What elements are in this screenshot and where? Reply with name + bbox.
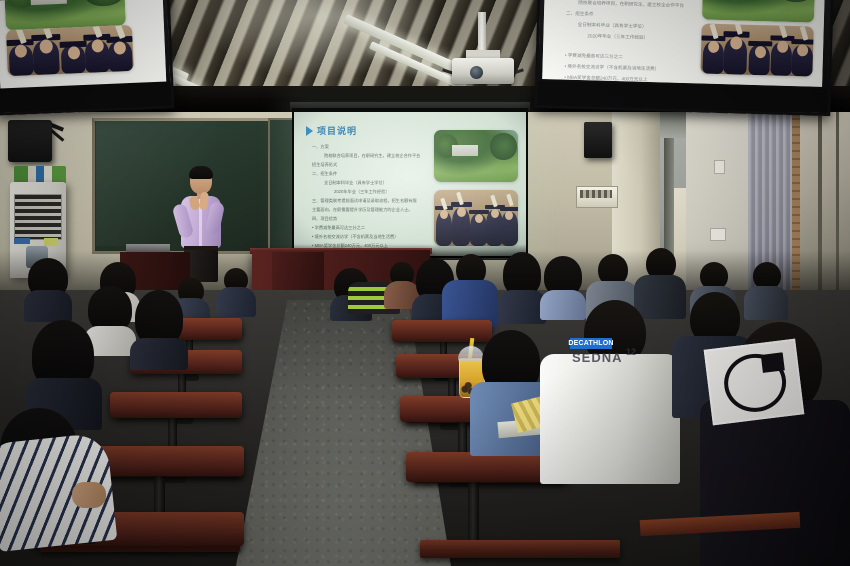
slide-body-line: 2020年毕业（三年工作经验）	[312, 189, 430, 195]
wall-switch-icon[interactable]	[714, 160, 725, 174]
presenter-hair	[189, 166, 213, 179]
shirt-subtext: SEDNA	[572, 350, 623, 365]
graduation-ceremony-photo	[434, 190, 518, 246]
chair-left-3	[110, 392, 242, 418]
wall-box-grille	[580, 190, 612, 198]
ac-label	[14, 238, 30, 244]
slide-body-line: 主要面向，在职需要提升学历及管理能力的企业人士。	[312, 207, 430, 213]
shirt-number: 12	[626, 347, 636, 357]
slide-body-line: 院校联合培养项目，在职研究生，建立校企合作平台	[312, 153, 430, 159]
slide-bullet-triangle-icon	[306, 126, 313, 136]
slide-body-line: 全日制本科毕业（具有学士学位）	[312, 180, 430, 186]
ac-vent-grille	[14, 194, 62, 240]
student-far-left-4	[216, 268, 256, 316]
slide-body-line: • 学费减免最高可达三分之二	[312, 225, 430, 231]
student-center-4	[498, 252, 546, 322]
slide-body-line: • 境外名校交流访学（不含机票及当地生活费）	[312, 234, 430, 240]
campus-lawn-photo	[702, 0, 815, 23]
slide-title: 项目说明	[317, 124, 357, 137]
slide-body-line: • 境外名校交流访学（不含机票及当地生活费）	[564, 63, 704, 75]
slide-body-line: 一、方案	[312, 144, 430, 150]
slide-body-line: 全日制本科毕业（具有学士学位）	[566, 21, 706, 33]
ac-label	[44, 238, 58, 246]
slide-body-line: 2020年毕业（三年工作经验）	[565, 32, 705, 44]
student-left-row3	[130, 290, 188, 366]
student-blue-tshirt	[442, 254, 498, 326]
student-pinstripe-arm	[72, 482, 106, 508]
projector-lens-icon	[470, 66, 483, 79]
student-white-decathlon-shirt: DECATHLON SEDNA 12	[540, 300, 680, 480]
slide-body-line: 三、管理类联考提前面试申请及录取流程，招生名额有限	[312, 198, 430, 204]
wall-speaker-right	[584, 122, 612, 158]
projection-screen: 项目说明 一、方案 院校联合培养项目，在职研究生，建立校企合作平台 招生培养形式…	[292, 108, 528, 258]
shirt-logo-patch	[704, 339, 805, 426]
decathlon-logo: DECATHLON	[570, 338, 612, 349]
campus-lawn-photo	[434, 130, 518, 182]
decathlon-logo-text: DECATHLON	[568, 340, 613, 347]
slide-body-line: 四、项目优势	[312, 216, 430, 222]
slide-main: 项目说明 一、方案 院校联合培养项目，在职研究生，建立校企合作平台 招生培养形式…	[294, 112, 526, 256]
monitor-left-screen	[0, 0, 166, 90]
slide-body-line: 二、招生条件	[566, 10, 706, 22]
wall-outlet-icon[interactable]	[710, 228, 726, 241]
monitor-right-screen: 一、方案 院校联合培养项目，在职研究生，建立校企合作平台 二、招生条件 全日制本…	[542, 0, 824, 87]
overhead-monitor-right: 一、方案 院校联合培养项目，在职研究生，建立校企合作平台 二、招生条件 全日制本…	[534, 0, 833, 116]
c-logo-icon	[721, 350, 790, 415]
graduation-ceremony-photo	[700, 23, 813, 76]
ceiling-projector	[452, 58, 514, 84]
slide-body-line: • 学费减免最高可达三分之二	[565, 52, 705, 64]
student-far-left-1	[24, 258, 72, 318]
lecture-hall-photo: 项目说明 一、方案 院校联合培养项目，在职研究生，建立校企合作平台 招生培养形式…	[0, 0, 850, 566]
wall-speaker-left	[8, 120, 52, 162]
slide-body-line: 院校联合培养项目，在职研究生，建立校企合作平台	[566, 0, 706, 11]
graduation-ceremony-photo	[6, 25, 134, 76]
overhead-monitor-left	[0, 0, 174, 116]
desk-right-5	[420, 540, 620, 558]
slide-body-line: 招生培养形式	[312, 162, 430, 168]
slide-body-line: 二、招生条件	[312, 171, 430, 177]
